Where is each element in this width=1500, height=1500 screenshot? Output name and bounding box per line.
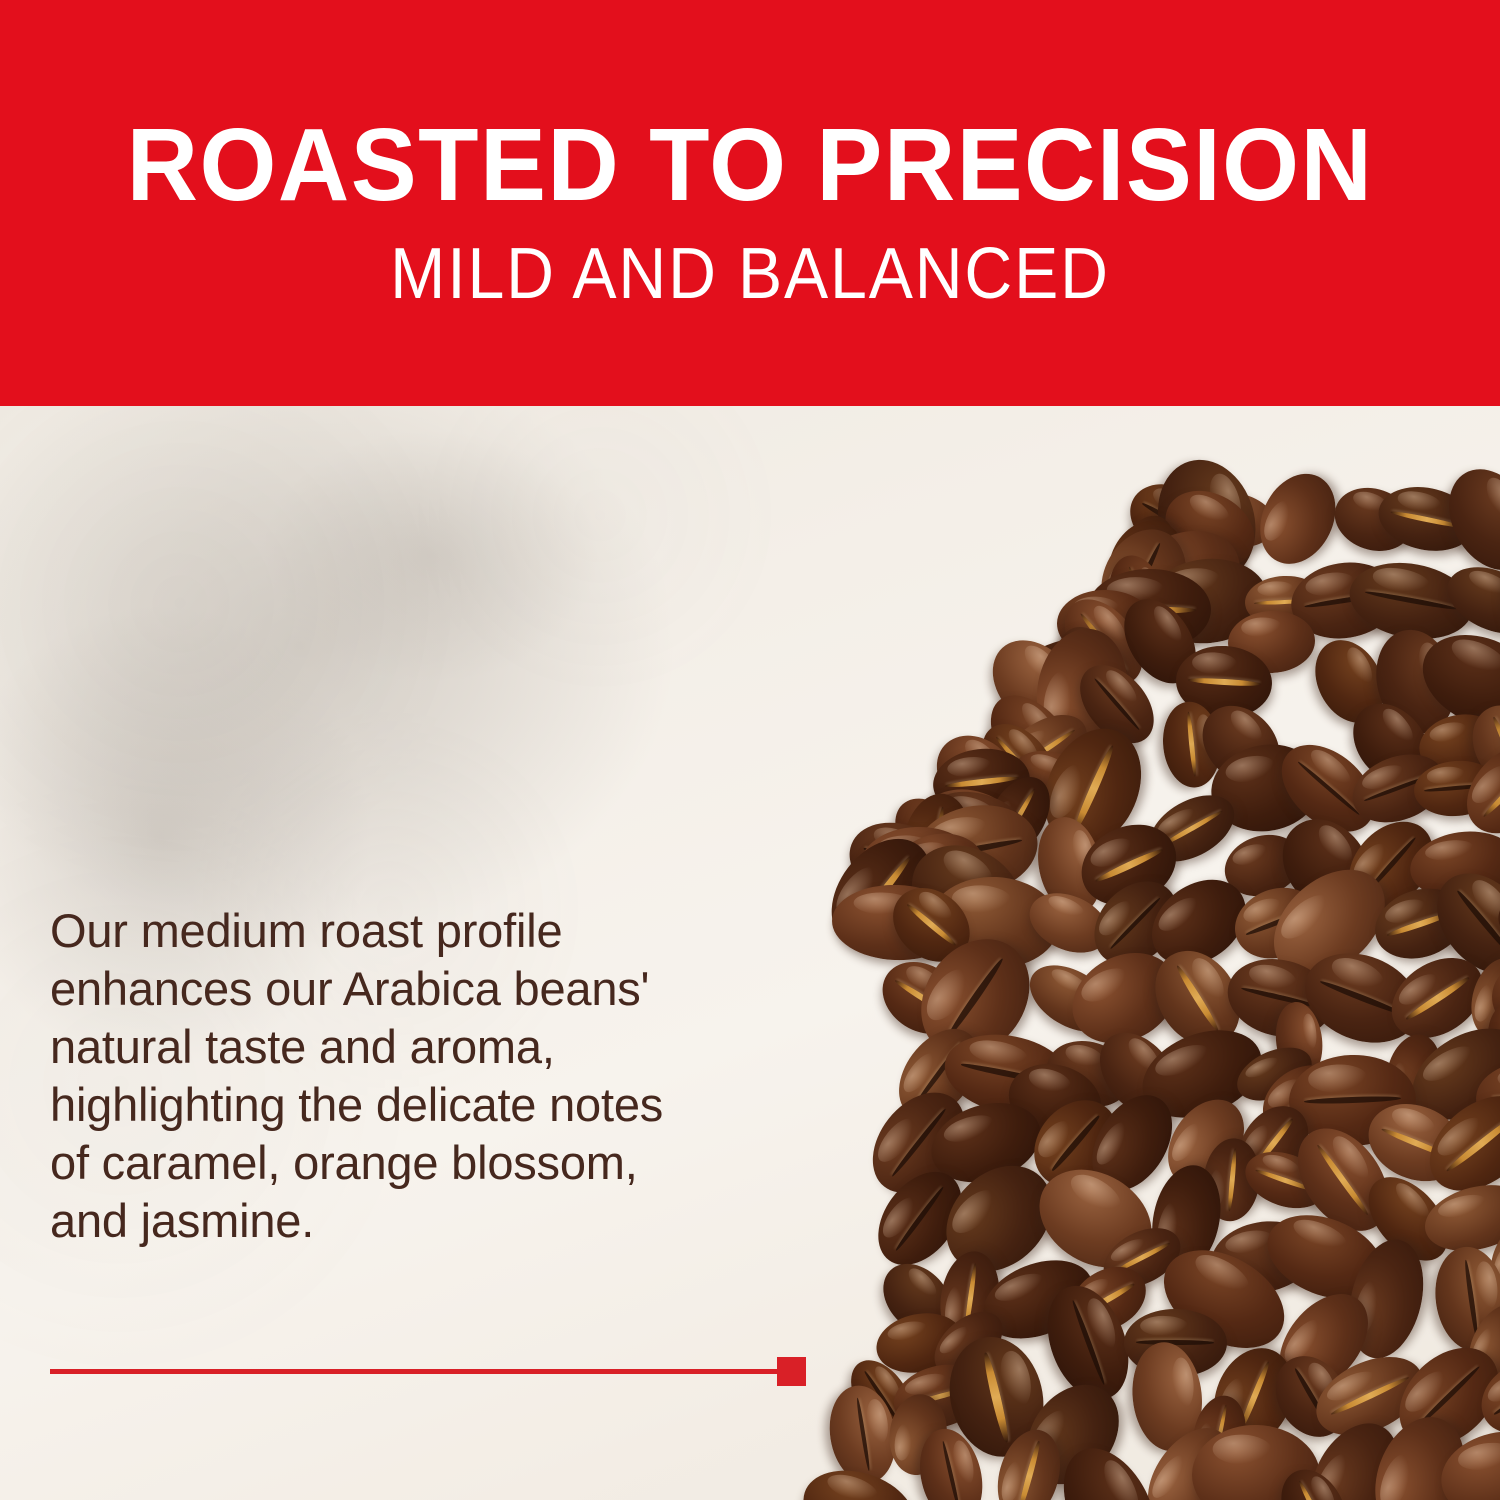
bean-highlight bbox=[1428, 719, 1468, 744]
product-infographic-card: ROASTED TO PRECISION MILD AND BALANCED O… bbox=[0, 0, 1500, 1500]
bean-highlight bbox=[1151, 1039, 1213, 1082]
bean-highlight bbox=[1300, 1012, 1318, 1049]
bean-highlight bbox=[1241, 617, 1282, 638]
header-banner: ROASTED TO PRECISION MILD AND BALANCED bbox=[0, 0, 1500, 406]
bean-highlight bbox=[1191, 651, 1236, 675]
bean-highlight bbox=[1455, 1439, 1500, 1474]
bean-highlight bbox=[998, 1458, 1027, 1500]
bean-highlight bbox=[876, 1192, 921, 1243]
bean-highlight bbox=[946, 754, 993, 779]
bean-highlight bbox=[1140, 1316, 1187, 1337]
bean-highlight bbox=[1447, 634, 1500, 681]
bean-highlight bbox=[903, 1264, 941, 1303]
bean-highlight bbox=[1231, 840, 1271, 868]
bean-highlight bbox=[1308, 1064, 1367, 1093]
bean-highlight bbox=[1225, 705, 1267, 747]
bean-highlight bbox=[1170, 1357, 1196, 1409]
bean-highlight bbox=[1213, 1434, 1273, 1466]
bean-highlight bbox=[1260, 1151, 1301, 1178]
bean-highlight bbox=[1223, 752, 1277, 786]
bean-highlight bbox=[1424, 838, 1475, 864]
bean-highlight bbox=[1374, 1450, 1417, 1500]
bean-highlight bbox=[1388, 1103, 1438, 1140]
bean-highlight bbox=[1305, 744, 1356, 792]
bean-highlight bbox=[1466, 873, 1500, 928]
bean-highlight bbox=[1328, 952, 1388, 995]
bean-highlight bbox=[1223, 1228, 1274, 1257]
bean-highlight bbox=[864, 1398, 890, 1445]
bean-highlight bbox=[1304, 569, 1356, 599]
bean-highlight bbox=[992, 1268, 1048, 1307]
bean-highlight bbox=[1342, 644, 1377, 688]
bean-highlight bbox=[1466, 566, 1500, 600]
bean-highlight bbox=[897, 1049, 940, 1098]
divider-line bbox=[50, 1369, 778, 1374]
bean-highlight bbox=[1026, 1065, 1073, 1097]
bean-highlight bbox=[1257, 580, 1294, 597]
bean-highlight bbox=[1094, 895, 1139, 941]
bean-highlight bbox=[1247, 960, 1300, 993]
bean-highlight bbox=[1480, 473, 1500, 527]
banner-subtitle: MILD AND BALANCED bbox=[60, 238, 1440, 310]
bean-highlight bbox=[1472, 1260, 1500, 1311]
bean-highlight bbox=[893, 1423, 914, 1462]
bean-highlight bbox=[1436, 1191, 1488, 1221]
bean-highlight bbox=[996, 1348, 1036, 1409]
bean-highlight bbox=[1186, 953, 1230, 1005]
bean-highlight bbox=[1076, 962, 1132, 1008]
coffee-bean-pile bbox=[830, 496, 1500, 1500]
bean-highlight bbox=[1426, 766, 1466, 786]
accent-divider bbox=[50, 1357, 806, 1387]
description-paragraph: Our medium roast profile enhances our Ar… bbox=[50, 902, 690, 1250]
bean-highlight bbox=[1371, 564, 1431, 596]
bean-highlight bbox=[1097, 1456, 1145, 1500]
divider-end-square bbox=[777, 1357, 806, 1386]
bean-highlight bbox=[1147, 1450, 1192, 1500]
bean-highlight bbox=[871, 1113, 921, 1168]
banner-title: ROASTED TO PRECISION bbox=[30, 113, 1470, 216]
bean-highlight bbox=[885, 1318, 928, 1343]
bean-highlight bbox=[1395, 488, 1443, 515]
bean-highlight bbox=[967, 1035, 1030, 1069]
